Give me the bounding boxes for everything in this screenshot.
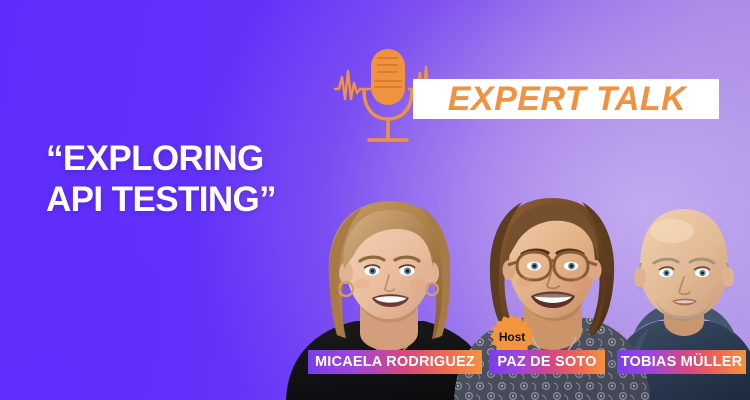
expert-talk-banner: “EXPLORING API TESTING”	[0, 0, 750, 400]
page-title: “EXPLORING API TESTING”	[46, 138, 276, 221]
expert-talk-label: EXPERT TALK	[421, 79, 713, 119]
name-badge-tobias-muller: TOBIAS MÜLLER	[617, 350, 746, 374]
name-badge-micaela-rodriguez: MICAELA RODRIGUEZ	[308, 350, 482, 374]
name-badge-paz-de-soto: PAZ DE SOTO	[489, 350, 605, 374]
